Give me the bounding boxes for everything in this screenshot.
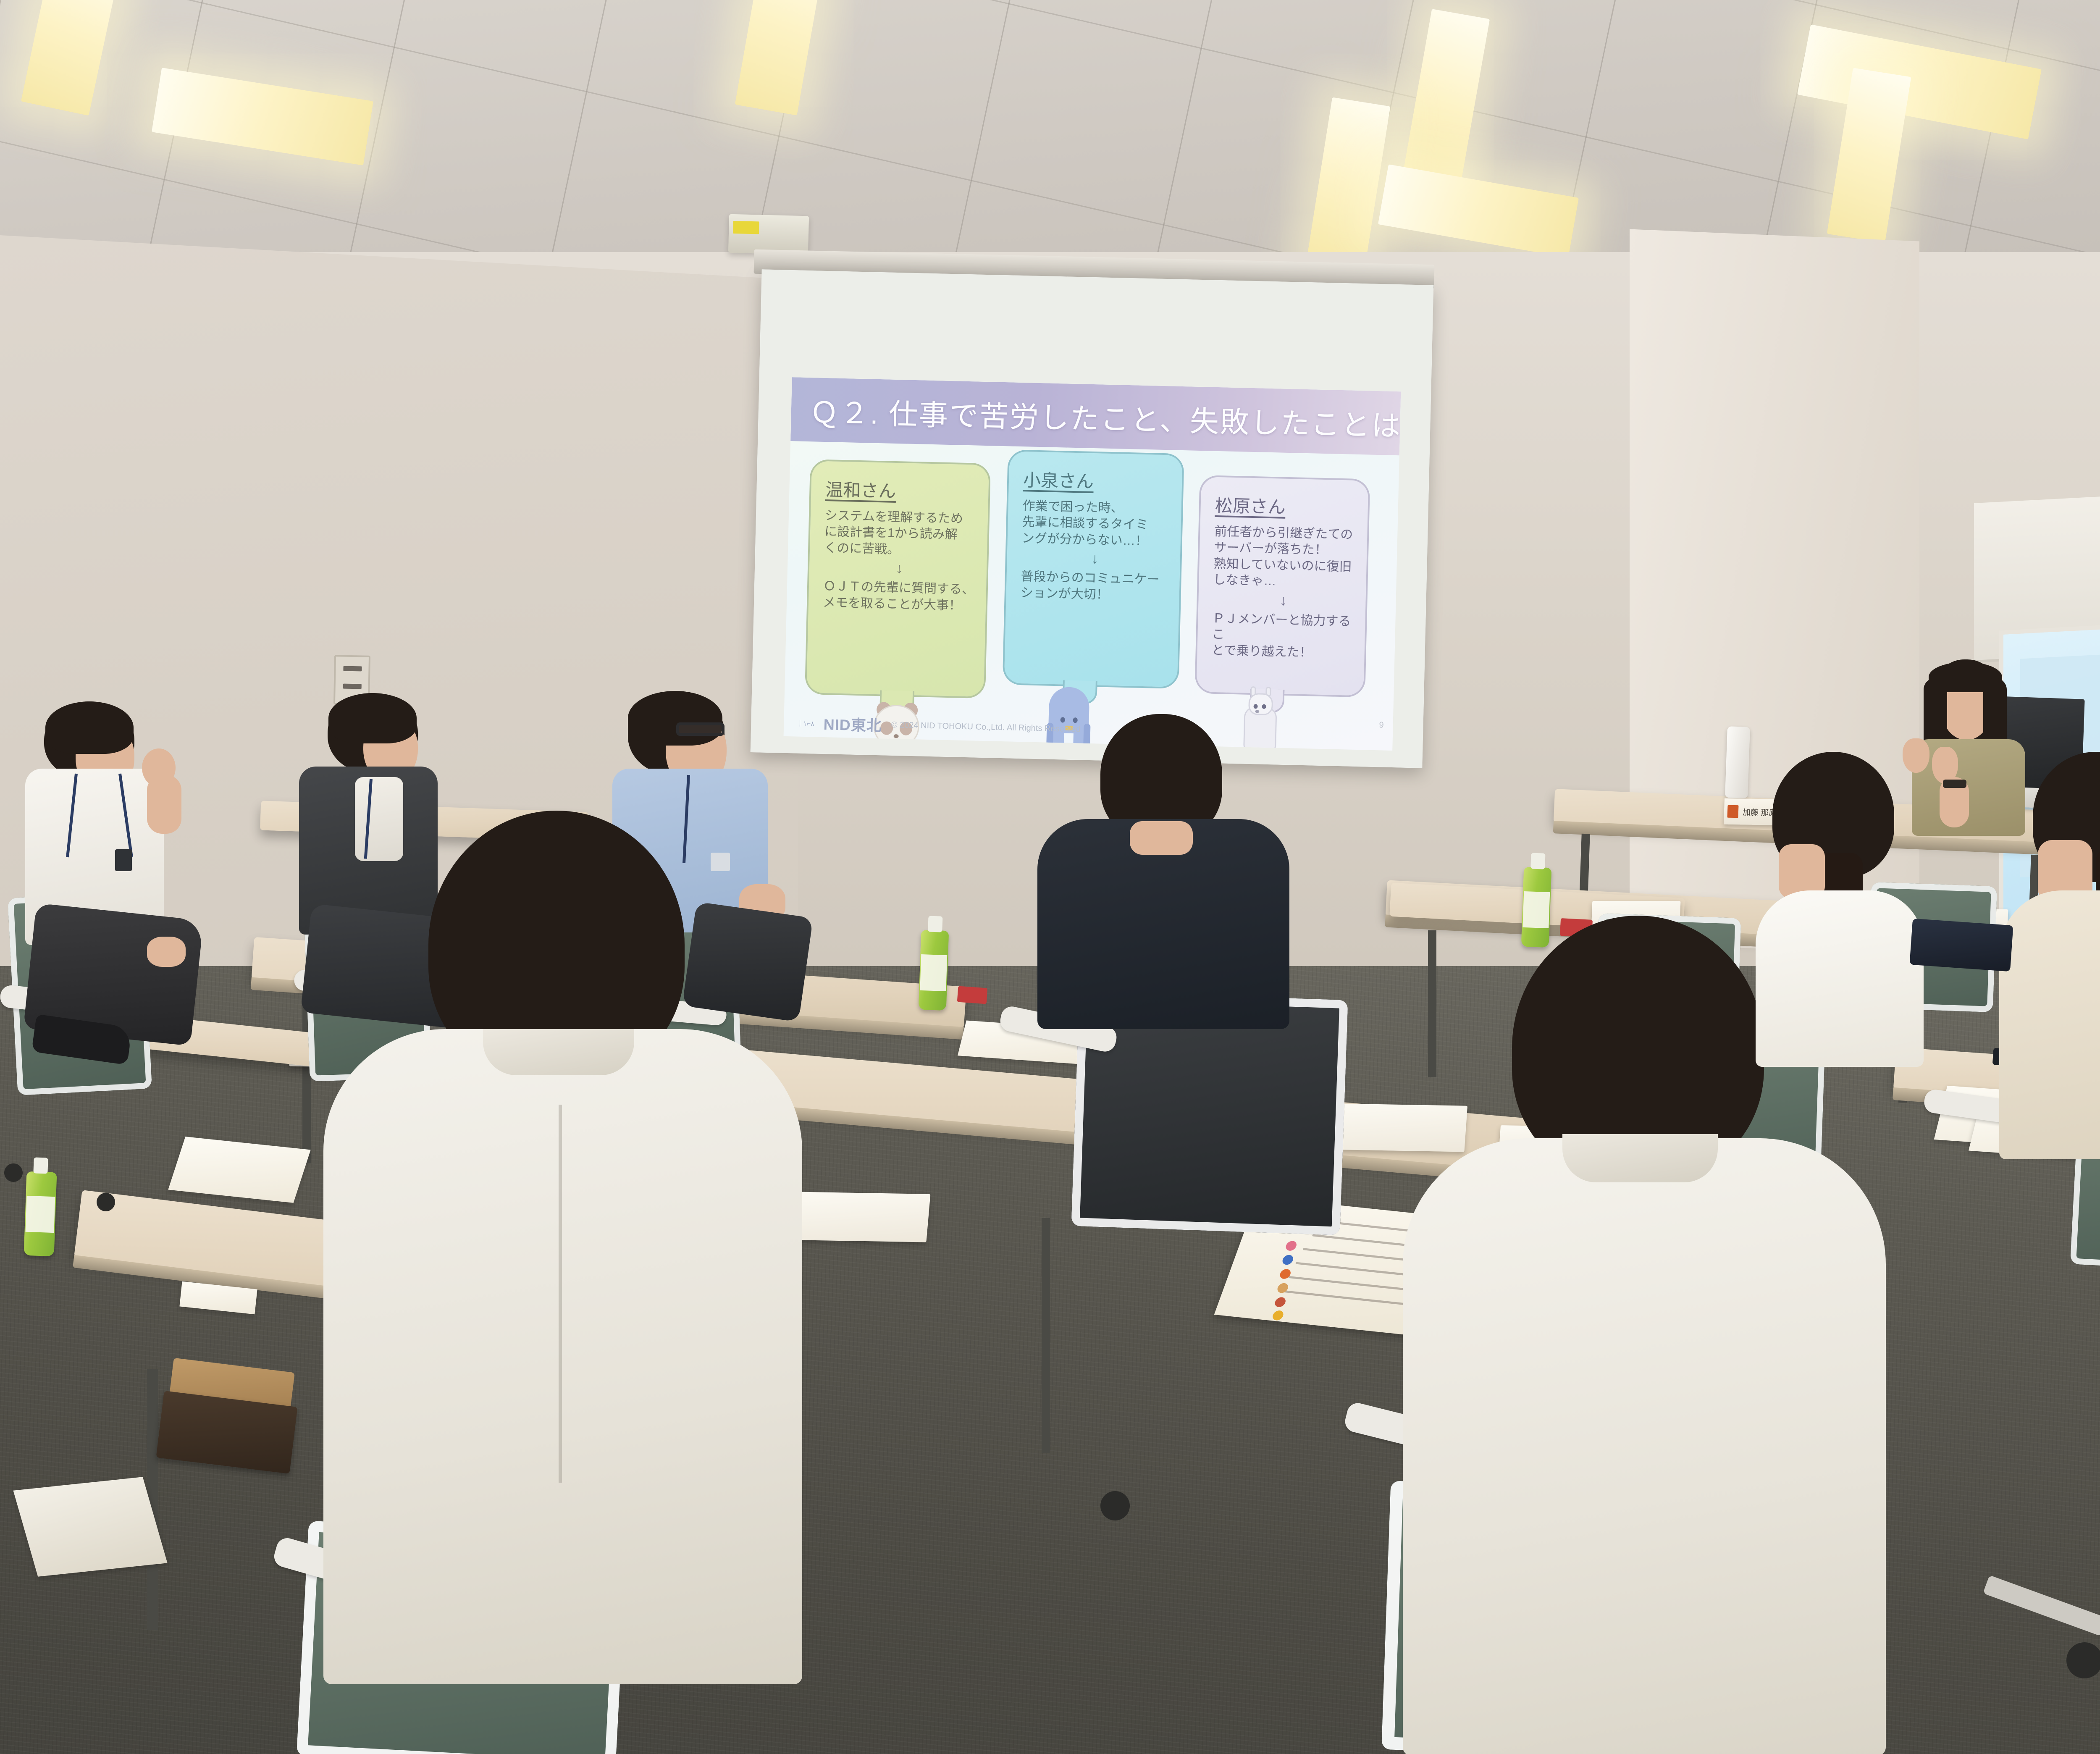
bubble-1-solution-line-2: メモを取ることが大事！: [823, 595, 974, 614]
attendee-ponytail-white: [1756, 752, 1974, 1079]
screen-motor-housing: [728, 214, 809, 255]
alpaca-nose: [1255, 710, 1259, 713]
table-center-leg: [1042, 1218, 1050, 1453]
chair-center-caster: [1100, 1491, 1130, 1520]
bubble-3-arrow-icon: ↓: [1213, 591, 1354, 610]
attendee-6-collar: [1562, 1134, 1718, 1182]
bubble-3-solution-line-1: ＰＪメンバーと協力するこ: [1212, 610, 1354, 646]
bubble-1-arrow-icon: ↓: [824, 559, 975, 578]
handout-icon-pink: [1284, 1240, 1298, 1251]
warning-label: [733, 221, 759, 234]
handout-icon-red: [1273, 1297, 1287, 1308]
handout-icon-yellow: [1271, 1310, 1285, 1321]
green-tea-bottle-far-left[interactable]: [24, 1171, 57, 1256]
bubble-3-name: 松原さん: [1215, 491, 1356, 520]
projection-screen: Ｑ２. 仕事で苦労したこと、失敗したことは？ 温和さん システムを理解するため …: [751, 269, 1434, 768]
speech-bubble-3: 松原さん 前任者から引継ぎたての サーバーが落ちた！ 熟知していないのに復旧 し…: [1194, 475, 1370, 697]
chair-foreground-right-caster: [2066, 1642, 2100, 1678]
chair-left-1-caster: [4, 1163, 23, 1182]
attendee-8-blouse: [1999, 890, 2100, 1159]
bubble-2-problem-line-3: ングが分からない…！: [1021, 530, 1169, 550]
attendee-5-shirt-seam: [559, 1105, 562, 1483]
slide-bubble-group: 温和さん システムを理解するため に設計書を1から読み解 くのに苦戦。 ↓ ＯＪ…: [784, 441, 1399, 749]
bubble-3-problem-line-4: しなきゃ…: [1213, 572, 1354, 591]
attendee-1-id-badge: [115, 849, 132, 871]
attendee-6-shirt: [1403, 1138, 1886, 1754]
attendee-white-shirt-left: [21, 701, 239, 1121]
attendee-cream-blouse: [1991, 752, 2100, 1214]
green-tea-label-left: [920, 954, 947, 991]
green-tea-label-far-left: [25, 1196, 55, 1233]
attendee-1-hair-fringe: [45, 701, 134, 754]
alpaca-head: [1248, 693, 1273, 715]
bubble-3-solution-line-2: とで乗り越えた！: [1211, 643, 1353, 662]
attendee-5-collar: [483, 1029, 634, 1075]
attendee-front-white: [307, 811, 853, 1693]
bag-on-table[interactable]: [1909, 919, 2013, 972]
attendee-2-hair-fringe: [328, 693, 417, 743]
outlet-slot-lower: [343, 684, 362, 689]
attendee-3-glasses-icon: [676, 722, 724, 736]
bubble-2-arrow-icon: ↓: [1021, 549, 1168, 569]
bubble-1-name: 温和さん: [825, 475, 977, 504]
speech-bubble-2: 小泉さん 作業で困った時、 先輩に相談するタイミ ングが分からない…！ ↓ 普段…: [1003, 449, 1184, 689]
attendee-1-hand-lap: [147, 937, 186, 967]
attendee-5-shirt: [323, 1029, 802, 1684]
presenter-tumbler[interactable]: [1725, 726, 1750, 798]
chair-left-1-caster-2: [97, 1193, 115, 1211]
tissue-foreground: [13, 1477, 167, 1576]
bubble-2-name: 小泉さん: [1023, 466, 1170, 495]
attendee-1-forearm: [147, 775, 181, 834]
slide-title: Ｑ２. 仕事で苦労したこと、失敗したことは？: [791, 388, 1401, 445]
nid-logo-text: NID東北: [823, 712, 882, 735]
attendee-7-blouse: [1756, 890, 1924, 1067]
outlet-slot-upper: [343, 666, 362, 672]
attendee-3-hair-fringe: [628, 691, 722, 746]
attendee-4-neck: [1130, 821, 1193, 855]
candy-left[interactable]: [957, 986, 987, 1004]
presentation-slide: Ｑ２. 仕事で苦労したこと、失敗したことは？ 温和さん システムを理解するため …: [784, 377, 1401, 751]
training-room-scene: Ｑ２. 仕事で苦労したこと、失敗したことは？ 温和さん システムを理解するため …: [0, 0, 2100, 1754]
attendee-dark-shirt-center: [1025, 714, 1319, 1050]
company-logo-icon: [1727, 805, 1738, 818]
speech-bubble-1: 温和さん システムを理解するため に設計書を1から読み解 くのに苦戦。 ↓ ＯＪ…: [805, 459, 991, 698]
handout-icon-blue: [1281, 1255, 1294, 1266]
green-tea-bottle-left[interactable]: [919, 930, 949, 1011]
